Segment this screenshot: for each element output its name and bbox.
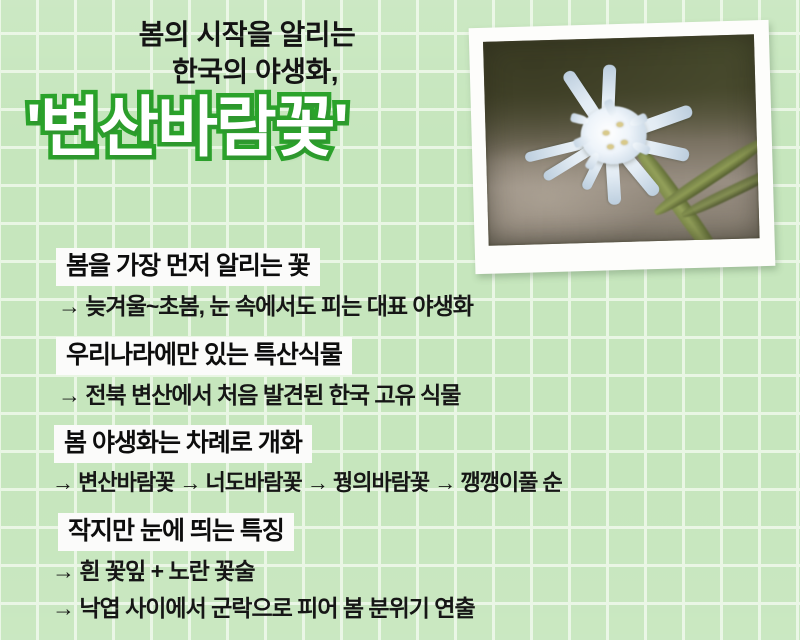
- kicker-line-2: 한국의 야생화,: [22, 53, 472, 90]
- flower-photo-frame: [469, 20, 776, 274]
- fact-block: 봄을 가장 먼저 알리는 꽃 → 늦겨울~초봄, 눈 속에서도 피는 대표 야생…: [0, 248, 800, 323]
- fact-heading: 작지만 눈에 띄는 특징: [58, 513, 294, 551]
- fact-heading: 우리나라에만 있는 특산식물: [56, 337, 352, 375]
- flower-anther: [620, 140, 627, 145]
- title-wrap: '변산바람꽃': [22, 92, 472, 163]
- fact-list: 봄을 가장 먼저 알리는 꽃 → 늦겨울~초봄, 눈 속에서도 피는 대표 야생…: [0, 248, 800, 630]
- flower-photo: [483, 34, 760, 245]
- flower-anther: [607, 144, 614, 149]
- page-title: '변산바람꽃': [26, 92, 347, 163]
- fact-line: → 낙엽 사이에서 군락으로 피어 봄 분위기 연출: [52, 593, 800, 625]
- fact-block: 우리나라에만 있는 특산식물 → 전북 변산에서 처음 발견된 한국 고유 식물: [0, 337, 800, 412]
- kicker-line-1: 봄의 시작을 알리는: [22, 16, 472, 53]
- header-block: 봄의 시작을 알리는 한국의 야생화, '변산바람꽃': [22, 16, 472, 164]
- fact-heading: 봄을 가장 먼저 알리는 꽃: [56, 248, 320, 286]
- fact-line: → 흰 꽃잎 + 노란 꽃술: [52, 556, 800, 588]
- fact-heading: 봄 야생화는 차례로 개화: [54, 425, 312, 463]
- fact-block: 작지만 눈에 띄는 특징 → 흰 꽃잎 + 노란 꽃술 → 낙엽 사이에서 군락…: [0, 513, 800, 624]
- fact-block: 봄 야생화는 차례로 개화 → 변산바람꽃 → 너도바람꽃 → 꿩의바람꽃 → …: [0, 425, 800, 498]
- fact-line: → 늦겨울~초봄, 눈 속에서도 피는 대표 야생화: [58, 291, 800, 323]
- flower-anther: [616, 122, 623, 127]
- infographic-poster: 봄의 시작을 알리는 한국의 야생화, '변산바람꽃': [0, 0, 800, 640]
- flower-anther: [602, 130, 609, 135]
- fact-line: → 변산바람꽃 → 너도바람꽃 → 꿩의바람꽃 → 깽깽이풀 순: [52, 468, 800, 498]
- fact-line: → 전북 변산에서 처음 발견된 한국 고유 식물: [58, 380, 800, 412]
